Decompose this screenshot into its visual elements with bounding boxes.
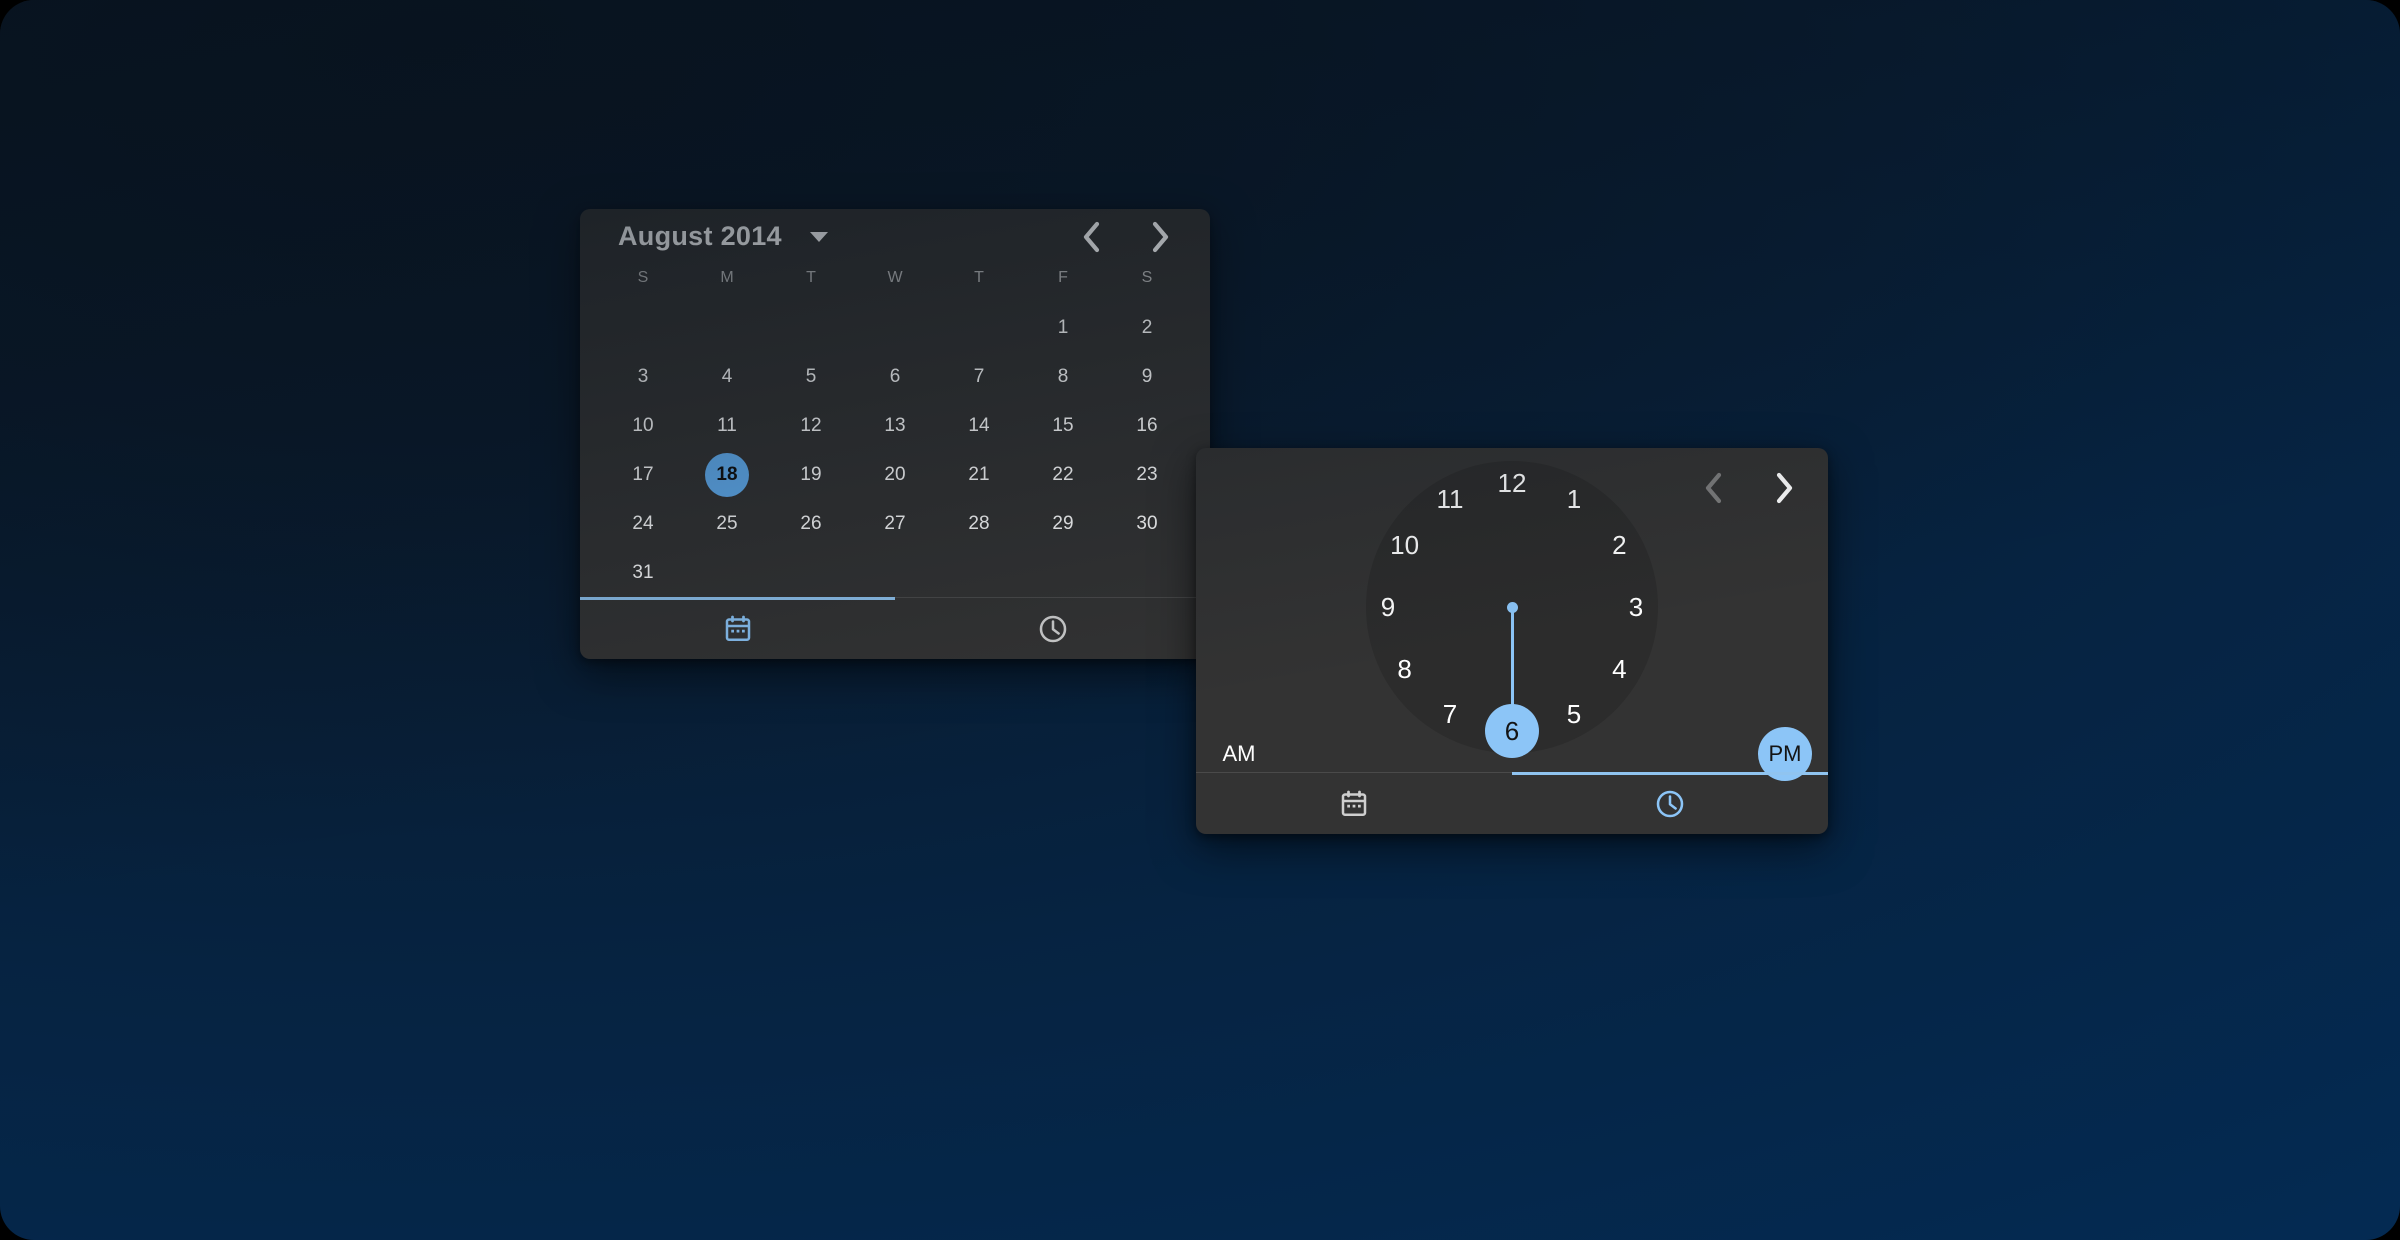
tab-time[interactable]	[1512, 773, 1828, 834]
day-cell[interactable]: 14	[937, 401, 1021, 450]
calendar-icon	[1339, 789, 1369, 819]
month-year-label[interactable]: August 2014	[618, 221, 782, 252]
day-cell[interactable]: 26	[769, 499, 853, 548]
day-cell[interactable]: 28	[937, 499, 1021, 548]
day-cell[interactable]: 18	[685, 450, 769, 499]
day-number[interactable]: 10	[621, 404, 665, 448]
day-cell[interactable]: 30	[1105, 499, 1189, 548]
day-cell-empty	[601, 303, 685, 352]
day-selected[interactable]: 18	[705, 453, 749, 497]
day-number[interactable]: 9	[1125, 355, 1169, 399]
next-month-button[interactable]	[1138, 215, 1182, 259]
clock-hour[interactable]: 11	[1423, 473, 1477, 527]
app-backdrop: August 2014 SMTWTFS 12345678910111213141…	[0, 0, 2400, 1240]
day-cell[interactable]: 24	[601, 499, 685, 548]
prev-time-button[interactable]	[1692, 466, 1736, 510]
tab-date[interactable]	[1196, 773, 1512, 834]
time-picker-tabbar	[1196, 772, 1828, 834]
day-number[interactable]: 30	[1125, 502, 1169, 546]
day-number[interactable]: 6	[873, 355, 917, 399]
day-cell[interactable]: 25	[685, 499, 769, 548]
chevron-down-icon[interactable]	[810, 232, 828, 242]
weekday-label: S	[1105, 265, 1189, 292]
clock-hour[interactable]: 4	[1592, 642, 1646, 696]
day-cell-empty	[937, 303, 1021, 352]
weekday-header-row: SMTWTFS	[580, 265, 1210, 292]
day-number[interactable]: 14	[957, 404, 1001, 448]
day-number[interactable]: 24	[621, 502, 665, 546]
day-cell[interactable]: 1	[1021, 303, 1105, 352]
tab-active-indicator	[580, 597, 895, 600]
clock-hour[interactable]: 5	[1547, 687, 1601, 741]
day-cell[interactable]: 9	[1105, 352, 1189, 401]
weekday-label: S	[601, 265, 685, 292]
day-number[interactable]: 13	[873, 404, 917, 448]
day-number[interactable]: 3	[621, 355, 665, 399]
day-number[interactable]: 22	[1041, 453, 1085, 497]
day-cell[interactable]: 29	[1021, 499, 1105, 548]
day-cell[interactable]: 4	[685, 352, 769, 401]
day-cell[interactable]: 22	[1021, 450, 1105, 499]
date-picker-dialog: August 2014 SMTWTFS 12345678910111213141…	[580, 209, 1210, 659]
day-number[interactable]: 2	[1125, 306, 1169, 350]
day-cell[interactable]: 6	[853, 352, 937, 401]
day-number[interactable]: 20	[873, 453, 917, 497]
day-number[interactable]: 11	[705, 404, 749, 448]
day-cell[interactable]: 17	[601, 450, 685, 499]
weekday-label: M	[685, 265, 769, 292]
clock-hour[interactable]: 3	[1609, 580, 1663, 634]
day-number[interactable]: 29	[1041, 502, 1085, 546]
weekday-label: W	[853, 265, 937, 292]
day-cell-empty	[685, 303, 769, 352]
day-cell[interactable]: 5	[769, 352, 853, 401]
date-picker-tabbar	[580, 597, 1210, 659]
day-cell[interactable]: 21	[937, 450, 1021, 499]
day-cell[interactable]: 10	[601, 401, 685, 450]
day-cell[interactable]: 19	[769, 450, 853, 499]
clock-hour[interactable]: 10	[1378, 518, 1432, 572]
prev-month-button[interactable]	[1070, 215, 1114, 259]
next-time-button[interactable]	[1762, 466, 1806, 510]
clock-hour-selected[interactable]: 6	[1485, 704, 1539, 758]
day-number[interactable]: 21	[957, 453, 1001, 497]
day-cell[interactable]: 31	[601, 548, 685, 597]
day-number[interactable]: 8	[1041, 355, 1085, 399]
clock-icon	[1654, 788, 1686, 820]
day-number[interactable]: 12	[789, 404, 833, 448]
day-number[interactable]: 31	[621, 551, 665, 595]
day-cell-empty	[853, 303, 937, 352]
day-cell[interactable]: 11	[685, 401, 769, 450]
clock-hour[interactable]: 2	[1592, 518, 1646, 572]
day-cell-empty	[769, 303, 853, 352]
day-number[interactable]: 27	[873, 502, 917, 546]
day-cell[interactable]: 7	[937, 352, 1021, 401]
day-cell[interactable]: 8	[1021, 352, 1105, 401]
day-cell[interactable]: 15	[1021, 401, 1105, 450]
day-number[interactable]: 25	[705, 502, 749, 546]
weekday-label: T	[769, 265, 853, 292]
clock-icon	[1037, 613, 1069, 645]
day-number[interactable]: 16	[1125, 404, 1169, 448]
day-cell[interactable]: 16	[1105, 401, 1189, 450]
date-picker-header: August 2014	[580, 209, 1210, 265]
day-number[interactable]: 26	[789, 502, 833, 546]
day-cell[interactable]: 13	[853, 401, 937, 450]
calendar-icon	[723, 614, 753, 644]
day-number[interactable]: 5	[789, 355, 833, 399]
day-number[interactable]: 15	[1041, 404, 1085, 448]
day-number[interactable]: 28	[957, 502, 1001, 546]
day-cell[interactable]: 3	[601, 352, 685, 401]
clock-hour[interactable]: 1	[1547, 473, 1601, 527]
day-number[interactable]: 17	[621, 453, 665, 497]
day-cell[interactable]: 27	[853, 499, 937, 548]
day-number[interactable]: 1	[1041, 306, 1085, 350]
time-picker-dialog: 121234567891011 AM PM	[1196, 448, 1828, 834]
weekday-label: T	[937, 265, 1021, 292]
day-number[interactable]: 19	[789, 453, 833, 497]
tab-time[interactable]	[895, 598, 1210, 659]
clock-hour[interactable]: 8	[1378, 642, 1432, 696]
day-number[interactable]: 4	[705, 355, 749, 399]
calendar-day-grid: 1234567891011121314151617181920212223242…	[580, 292, 1210, 597]
clock-hour[interactable]: 7	[1423, 687, 1477, 741]
weekday-label: F	[1021, 265, 1105, 292]
tab-active-indicator	[1512, 772, 1828, 775]
day-cell[interactable]: 20	[853, 450, 937, 499]
day-number[interactable]: 7	[957, 355, 1001, 399]
clock-hour[interactable]: 12	[1485, 456, 1539, 510]
tab-date[interactable]	[580, 598, 895, 659]
day-number[interactable]: 23	[1125, 453, 1169, 497]
time-picker-nav	[1692, 466, 1806, 510]
day-cell[interactable]: 12	[769, 401, 853, 450]
time-picker-body: 121234567891011 AM PM	[1196, 448, 1828, 772]
clock-hour[interactable]: 9	[1361, 580, 1415, 634]
day-cell[interactable]: 23	[1105, 450, 1189, 499]
day-cell[interactable]: 2	[1105, 303, 1189, 352]
